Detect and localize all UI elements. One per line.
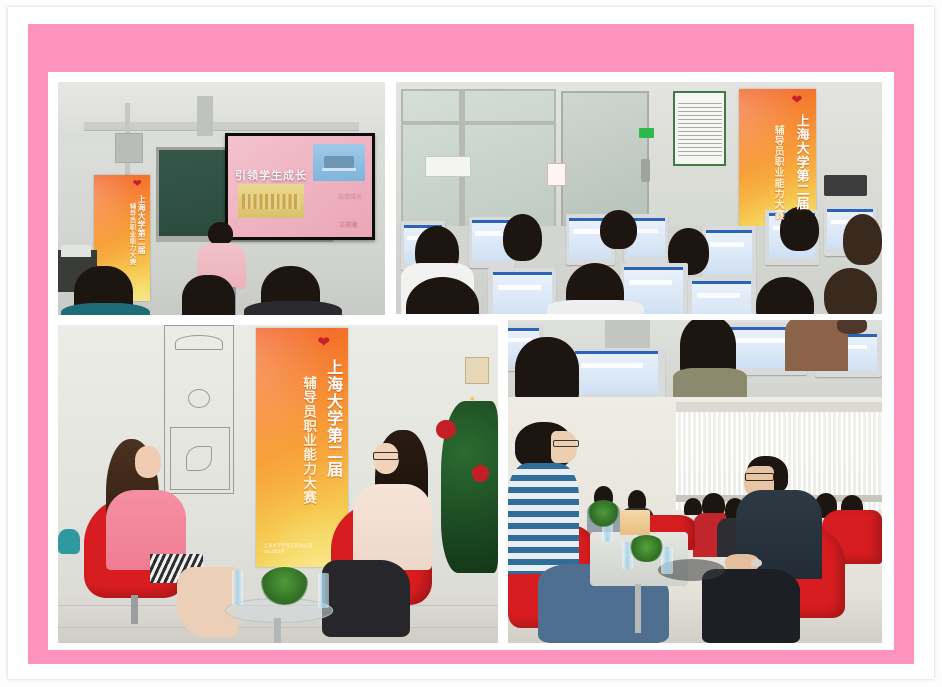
- heart-logo-icon: ❤: [317, 335, 330, 350]
- table-plant: [628, 535, 665, 562]
- interview-scene: ❤ 上海大学第二届 辅导员职业能力大赛 上海大学学生工作办公室 2014年5月 …: [58, 325, 498, 643]
- water-bottle: [232, 570, 243, 605]
- wall-poster: [547, 163, 566, 186]
- slide-sub-bottom-text: 正能量: [340, 220, 358, 229]
- chair-left-stem: [131, 595, 138, 624]
- table-plant: [260, 567, 308, 605]
- glasses-icon: [553, 440, 579, 447]
- audience-shoulder-left: [61, 303, 149, 315]
- banner-footer-line-1: 上海大学学生工作办公室: [263, 543, 313, 549]
- banner-footer-line-2: 2014年5月: [263, 549, 313, 555]
- column-mural-oval: [188, 389, 210, 408]
- glasses-icon: [373, 452, 399, 460]
- glasses-icon: [745, 473, 773, 480]
- man-right-trousers: [702, 569, 799, 643]
- column-mural-capital: [175, 335, 223, 351]
- notice-board-lines: [678, 103, 722, 159]
- audience-head-middle: [182, 275, 234, 315]
- slide-sub-right-text: 自我成长: [338, 192, 362, 201]
- slide-photo-projector: [313, 144, 365, 180]
- participant-head-foreground: [515, 337, 579, 397]
- water-bottle: [318, 573, 329, 608]
- av-cart-device: [61, 245, 90, 257]
- participant-arm: [837, 320, 867, 334]
- photo-interview-two-women[interactable]: ❤ 上海大学第二届 辅导员职业能力大赛 上海大学学生工作办公室 2014年5月 …: [58, 325, 498, 643]
- partition-transom: [401, 121, 557, 125]
- computer-lab-closeup-scene: [508, 320, 882, 397]
- projection-screen: 引领学生成长 引领学生成长 自我成长 正能量: [225, 133, 375, 240]
- slide-surface: 引领学生成长 引领学生成长 自我成长 正能量: [228, 136, 372, 237]
- slide-photo-hall: [238, 184, 304, 218]
- table-stem: [274, 618, 281, 643]
- lounge-scene: [508, 397, 882, 643]
- collage-canvas: 引领学生成长 引领学生成长 自我成长 正能量 ❤ 上海大学第二届 辅导员职业能力…: [0, 0, 942, 687]
- banner-org-text: 上海大学第二届: [795, 114, 808, 210]
- computer-lab-scene: ❤ 上海大学第二届 辅导员职业能力大赛: [396, 82, 882, 314]
- monitor: [688, 277, 756, 314]
- stool-teal: [58, 529, 80, 554]
- wall-plaque: [465, 357, 489, 384]
- projector-mount: [197, 96, 213, 136]
- woman-right-top: [353, 484, 432, 570]
- wristwatch-icon: [751, 559, 762, 566]
- audience-shoulder-right: [244, 301, 342, 315]
- door-handle-icon: [641, 159, 650, 182]
- photo-computer-lab[interactable]: ❤ 上海大学第二届 辅导员职业能力大赛: [396, 82, 882, 314]
- photo-computer-lab-closeup[interactable]: [508, 320, 882, 397]
- banner-event-text: 辅导员职业能力大赛: [301, 376, 315, 505]
- monitor: [702, 226, 755, 282]
- coffee-table-leg: [635, 584, 641, 633]
- woman-right-legs: [322, 560, 410, 636]
- participant-head: [780, 207, 819, 251]
- banner-event-text: 辅导员职业能力大赛: [772, 125, 782, 220]
- monitor: [568, 348, 665, 397]
- participant-torso-foreground: [547, 300, 644, 314]
- tree-star-icon: ✦: [468, 395, 476, 404]
- banner-org-text: 上海大学第二届: [324, 359, 340, 478]
- tissue-box: [620, 510, 650, 535]
- participant-head: [600, 210, 636, 249]
- heart-logo-icon: ❤: [791, 93, 802, 106]
- wall-box-upper: [115, 133, 143, 163]
- exit-sign-icon: [639, 128, 654, 137]
- classroom-scene: 引领学生成长 引领学生成长 自我成长 正能量 ❤ 上海大学第二届 辅导员职业能力…: [58, 82, 385, 315]
- slide-title-text: 引领学生成长: [235, 167, 307, 183]
- window-valance: [676, 402, 882, 412]
- participant-head: [843, 214, 882, 265]
- photo-classroom-presentation[interactable]: 引领学生成长 引领学生成长 自我成长 正能量 ❤ 上海大学第二届 辅导员职业能力…: [58, 82, 385, 315]
- man-left-face: [551, 431, 577, 463]
- presenter-head: [208, 222, 233, 245]
- printer: [824, 175, 868, 196]
- participant-head: [503, 214, 542, 260]
- partition-notice: [425, 156, 471, 177]
- woman-left-face: [135, 446, 161, 478]
- photo-lounge-discussion[interactable]: [508, 397, 882, 643]
- woman-left-legs: [177, 567, 239, 637]
- banner-event-text: 辅导员职业能力大赛: [127, 203, 134, 265]
- banner-org-text: 上海大学第二届: [137, 195, 145, 254]
- banner-footer-text: 上海大学学生工作办公室 2014年5月: [263, 543, 313, 555]
- heart-logo-icon: ❤: [133, 179, 142, 190]
- man-left-striped-polo: [508, 463, 579, 574]
- participant-torso: [673, 368, 748, 397]
